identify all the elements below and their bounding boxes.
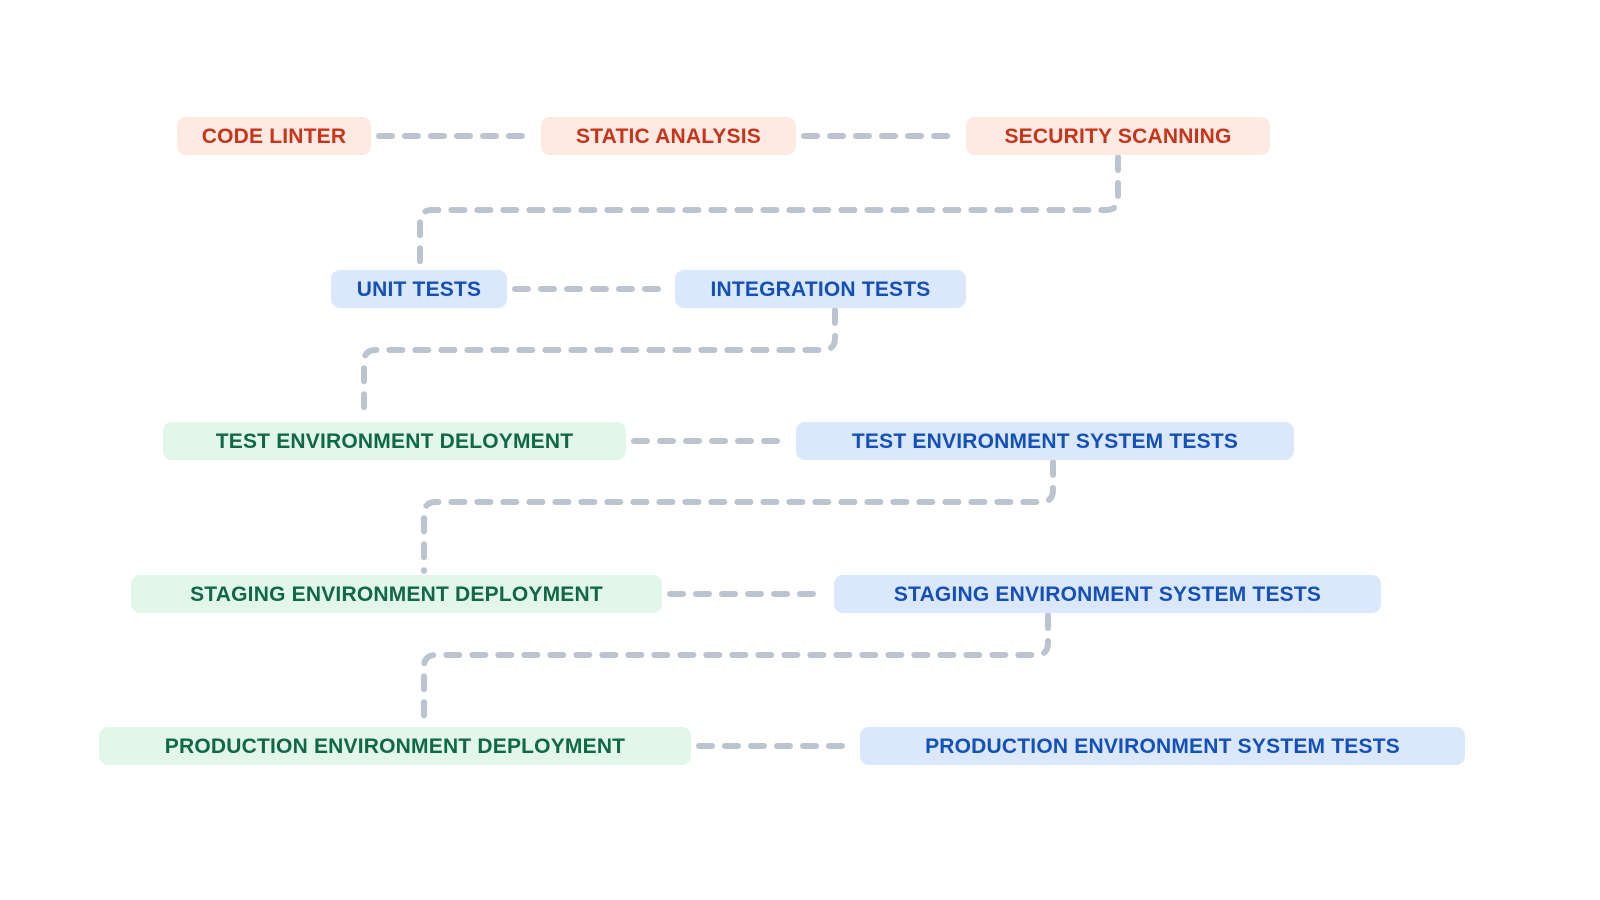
node-label: TEST ENVIRONMENT SYSTEM TESTS bbox=[852, 431, 1238, 452]
node-test-environment-system-tests[interactable]: TEST ENVIRONMENT SYSTEM TESTS bbox=[796, 422, 1294, 460]
node-label: PRODUCTION ENVIRONMENT SYSTEM TESTS bbox=[925, 736, 1400, 757]
node-label: STATIC ANALYSIS bbox=[576, 126, 761, 147]
node-label: CODE LINTER bbox=[202, 126, 347, 147]
edge-connector bbox=[420, 157, 1118, 266]
node-code-linter[interactable]: CODE LINTER bbox=[177, 117, 371, 155]
node-label: TEST ENVIRONMENT DELOYMENT bbox=[216, 431, 574, 452]
node-staging-environment-system-tests[interactable]: STAGING ENVIRONMENT SYSTEM TESTS bbox=[834, 575, 1381, 613]
node-test-environment-deloyment[interactable]: TEST ENVIRONMENT DELOYMENT bbox=[163, 422, 626, 460]
node-production-environment-deployment[interactable]: PRODUCTION ENVIRONMENT DEPLOYMENT bbox=[99, 727, 691, 765]
node-security-scanning[interactable]: SECURITY SCANNING bbox=[966, 117, 1270, 155]
node-production-environment-system-tests[interactable]: PRODUCTION ENVIRONMENT SYSTEM TESTS bbox=[860, 727, 1465, 765]
node-label: STAGING ENVIRONMENT DEPLOYMENT bbox=[190, 584, 603, 605]
node-static-analysis[interactable]: STATIC ANALYSIS bbox=[541, 117, 796, 155]
node-integration-tests[interactable]: INTEGRATION TESTS bbox=[675, 270, 966, 308]
edge-connector bbox=[364, 310, 835, 418]
edge-connector bbox=[424, 615, 1048, 723]
edge-connector bbox=[424, 462, 1053, 571]
node-label: UNIT TESTS bbox=[357, 279, 482, 300]
node-label: INTEGRATION TESTS bbox=[710, 279, 930, 300]
node-label: SECURITY SCANNING bbox=[1004, 126, 1231, 147]
flowchart-canvas: CODE LINTERSTATIC ANALYSISSECURITY SCANN… bbox=[0, 0, 1600, 900]
node-unit-tests[interactable]: UNIT TESTS bbox=[331, 270, 507, 308]
node-label: PRODUCTION ENVIRONMENT DEPLOYMENT bbox=[165, 736, 625, 757]
node-staging-environment-deployment[interactable]: STAGING ENVIRONMENT DEPLOYMENT bbox=[131, 575, 662, 613]
node-label: STAGING ENVIRONMENT SYSTEM TESTS bbox=[894, 584, 1321, 605]
